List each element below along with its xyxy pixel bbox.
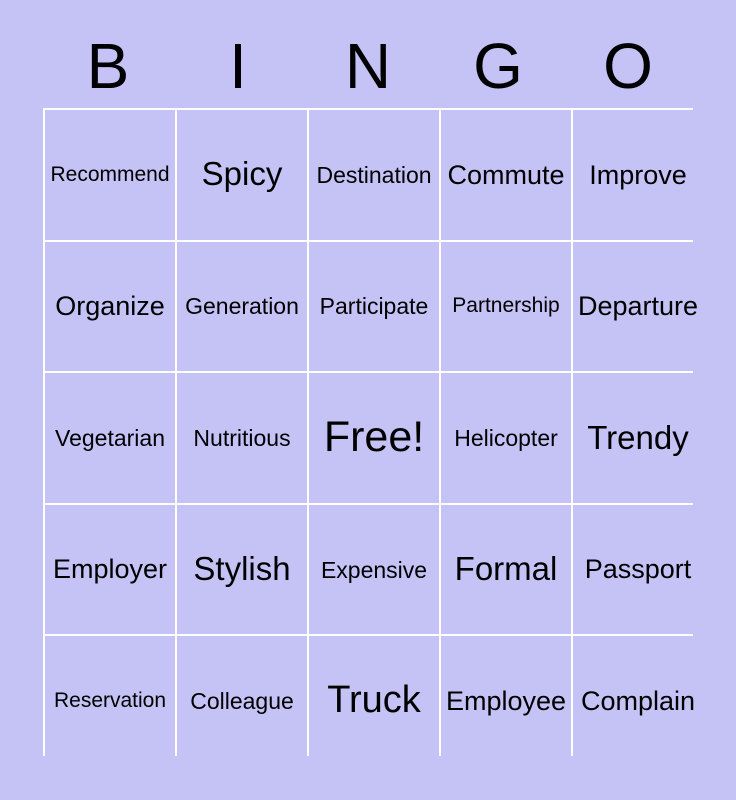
bingo-cell-label: Partnership	[452, 295, 559, 317]
bingo-cell-label: Spicy	[202, 157, 283, 192]
bingo-cell[interactable]: Employee	[441, 636, 571, 766]
bingo-cell-label: Truck	[327, 681, 421, 721]
bingo-card: B I N G O RecommendSpicyDestinationCommu…	[0, 0, 736, 800]
header-letter-b: B	[43, 24, 173, 108]
bingo-cell-label: Organize	[55, 292, 165, 320]
bingo-cell[interactable]: Generation	[177, 242, 307, 372]
bingo-cell-label: Passport	[585, 555, 692, 583]
bingo-cell-label: Destination	[316, 163, 431, 187]
bingo-cell[interactable]: Destination	[309, 110, 439, 240]
bingo-cell-label: Expensive	[321, 558, 427, 582]
bingo-cell[interactable]: Organize	[45, 242, 175, 372]
bingo-grid: RecommendSpicyDestinationCommuteImproveO…	[43, 108, 693, 756]
bingo-cell[interactable]: Stylish	[177, 505, 307, 635]
bingo-cell[interactable]: Partnership	[441, 242, 571, 372]
bingo-cell-label: Reservation	[54, 690, 166, 712]
bingo-cell-label: Formal	[455, 552, 558, 587]
bingo-cell[interactable]: Truck	[309, 636, 439, 766]
bingo-cell[interactable]: Formal	[441, 505, 571, 635]
bingo-cell-label: Employee	[446, 687, 566, 715]
bingo-cell-label: Generation	[185, 294, 299, 318]
bingo-cell[interactable]: Complain	[573, 636, 703, 766]
bingo-cell-label: Stylish	[193, 552, 290, 587]
header-letter-g: G	[433, 24, 563, 108]
bingo-cell-label: Colleague	[190, 689, 294, 713]
header-letter-n: N	[303, 24, 433, 108]
bingo-cell[interactable]: Vegetarian	[45, 373, 175, 503]
bingo-cell[interactable]: Employer	[45, 505, 175, 635]
bingo-cell-label: Trendy	[587, 421, 688, 456]
bingo-cell-label: Improve	[589, 161, 687, 189]
bingo-cell[interactable]: Departure	[573, 242, 703, 372]
bingo-cell-label: Vegetarian	[55, 426, 165, 450]
bingo-cell-label: Helicopter	[454, 426, 558, 450]
bingo-cell[interactable]: Spicy	[177, 110, 307, 240]
bingo-cell[interactable]: Reservation	[45, 636, 175, 766]
bingo-cell-label: Nutritious	[193, 426, 290, 450]
bingo-cell[interactable]: Trendy	[573, 373, 703, 503]
bingo-cell[interactable]: Improve	[573, 110, 703, 240]
bingo-cell[interactable]: Recommend	[45, 110, 175, 240]
bingo-cell-label: Free!	[324, 415, 424, 460]
bingo-cell-label: Complain	[581, 687, 695, 715]
bingo-cell[interactable]: Passport	[573, 505, 703, 635]
bingo-free-space-cell[interactable]: Free!	[309, 373, 439, 503]
bingo-cell[interactable]: Commute	[441, 110, 571, 240]
bingo-cell[interactable]: Colleague	[177, 636, 307, 766]
bingo-cell-label: Commute	[447, 161, 564, 189]
bingo-cell-label: Recommend	[50, 164, 169, 186]
bingo-cell[interactable]: Helicopter	[441, 373, 571, 503]
bingo-cell-label: Departure	[578, 292, 698, 320]
bingo-cell[interactable]: Nutritious	[177, 373, 307, 503]
bingo-cell[interactable]: Participate	[309, 242, 439, 372]
bingo-cell-label: Employer	[53, 555, 167, 583]
bingo-cell-label: Participate	[320, 294, 429, 318]
bingo-cell[interactable]: Expensive	[309, 505, 439, 635]
bingo-header-row: B I N G O	[43, 24, 693, 108]
header-letter-o: O	[563, 24, 693, 108]
header-letter-i: I	[173, 24, 303, 108]
